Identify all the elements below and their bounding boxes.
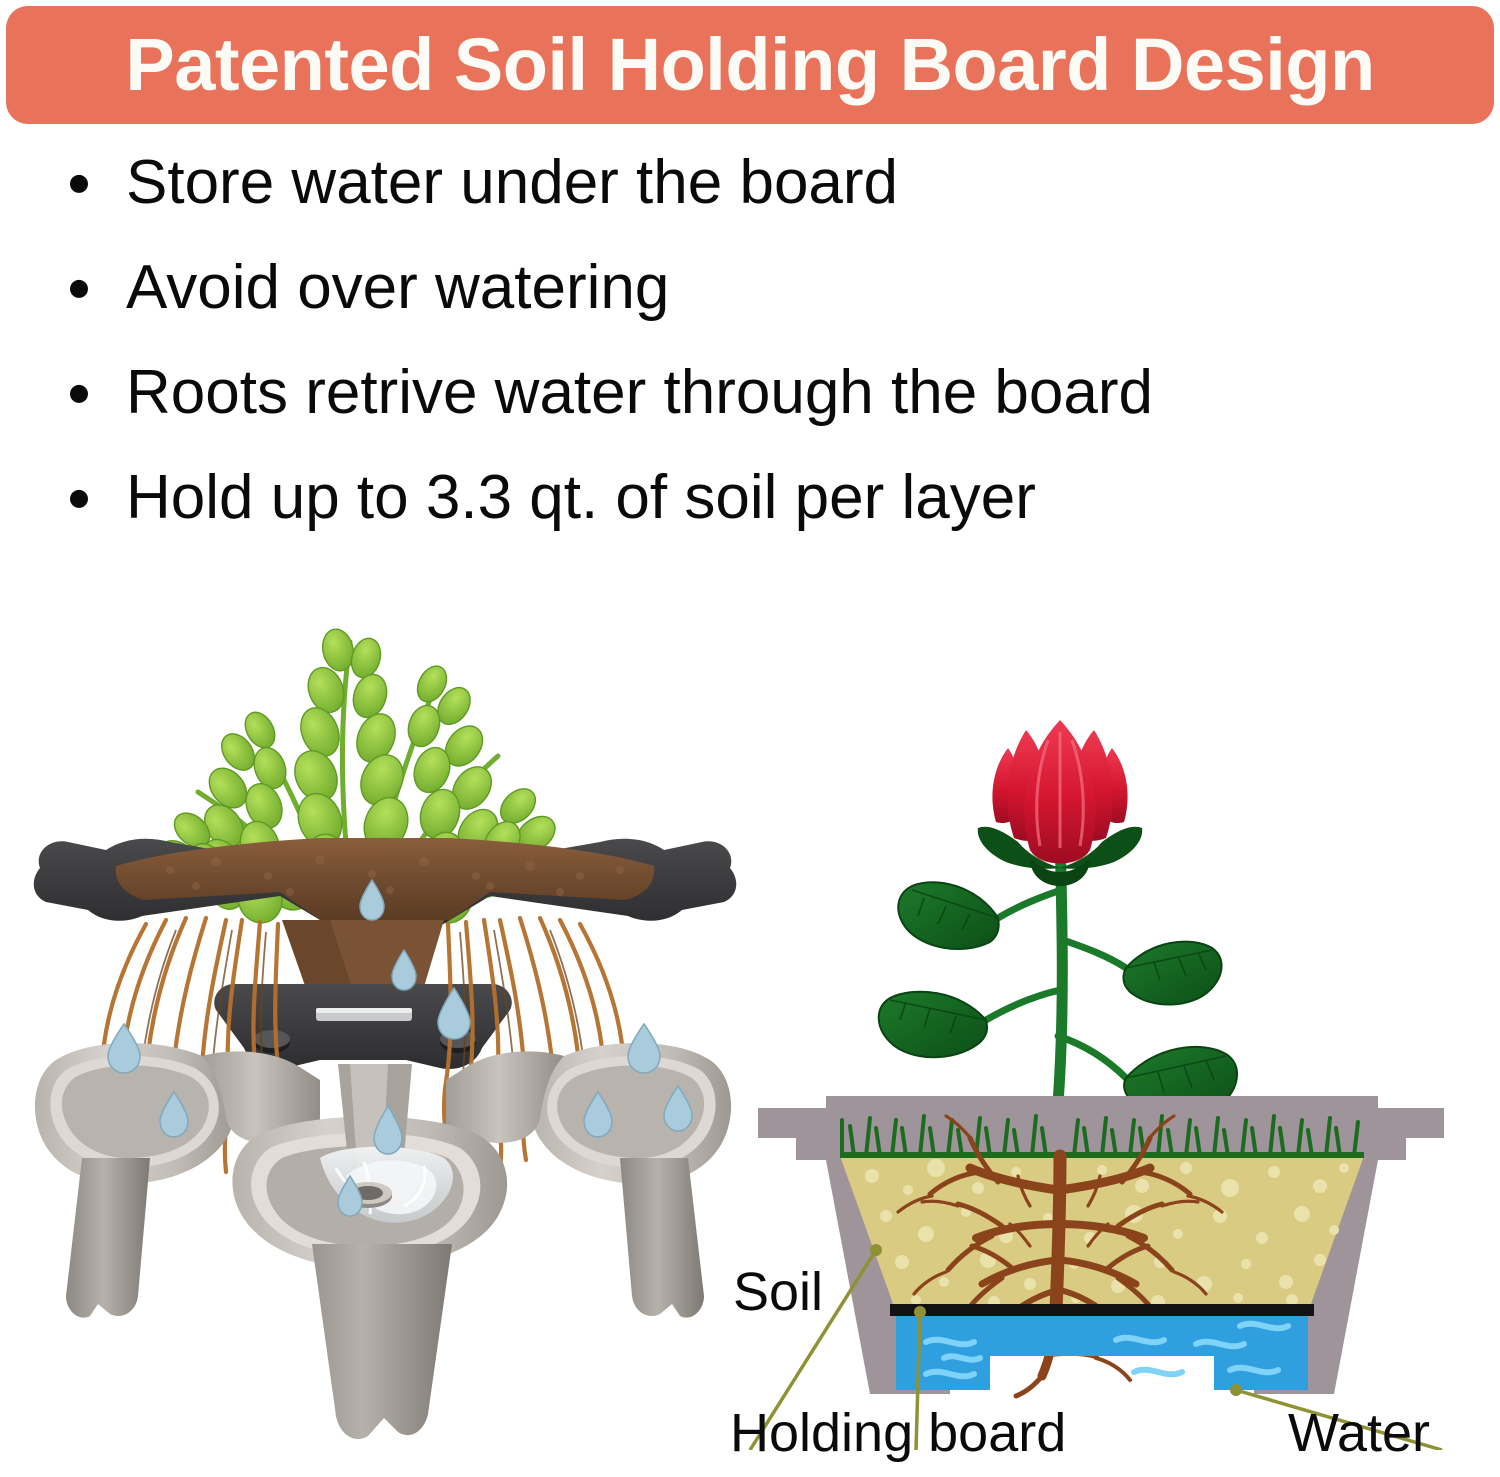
feature-item: Avoid over watering <box>46 257 1466 319</box>
callout-label-water: Water <box>1288 1406 1430 1460</box>
bullet-icon <box>70 490 88 508</box>
soil-holding-board-top <box>34 838 737 1069</box>
stacked-planter-photo <box>20 580 750 1460</box>
header-banner: Patented Soil Holding Board Design <box>6 6 1494 124</box>
bullet-icon <box>70 175 88 193</box>
bullet-icon <box>70 385 88 403</box>
feature-text: Roots retrive water through the board <box>126 358 1153 427</box>
planter-cross-section-diagram <box>730 690 1500 1450</box>
bullet-icon <box>70 280 88 298</box>
page-title: Patented Soil Holding Board Design <box>125 28 1374 102</box>
feature-item: Hold up to 3.3 qt. of soil per layer <box>46 467 1466 529</box>
callout-label-holding-board: Holding board <box>730 1406 1066 1460</box>
rose-plant <box>879 720 1237 1160</box>
feature-list: Store water under the board Avoid over w… <box>46 152 1466 572</box>
feature-item: Store water under the board <box>46 152 1466 214</box>
feature-item: Roots retrive water through the board <box>46 362 1466 424</box>
feature-text: Hold up to 3.3 qt. of soil per layer <box>126 463 1036 532</box>
figures-row <box>0 580 1500 1477</box>
feature-text: Avoid over watering <box>126 253 669 322</box>
callout-label-soil: Soil <box>733 1265 823 1319</box>
holding-board-line <box>890 1304 1314 1316</box>
water-reservoir <box>896 1314 1308 1390</box>
feature-text: Store water under the board <box>126 148 898 217</box>
